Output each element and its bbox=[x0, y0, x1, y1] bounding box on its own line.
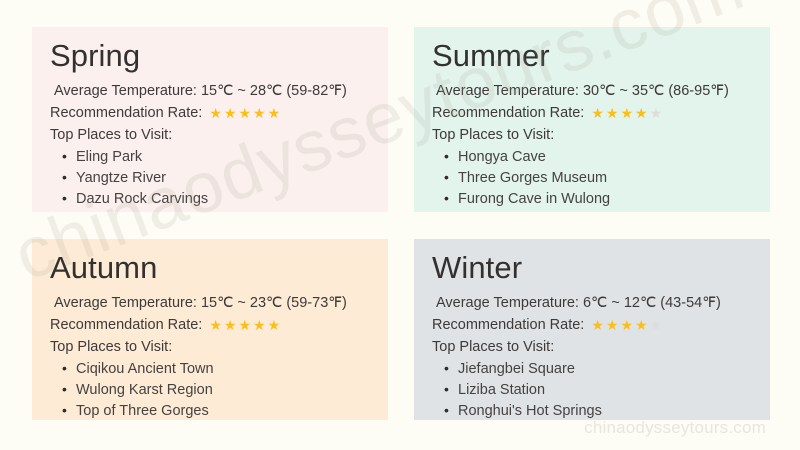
season-title-autumn: Autumn bbox=[50, 251, 372, 286]
list-item: Ciqikou Ancient Town bbox=[74, 359, 372, 380]
season-card-summer: SummerAverage Temperature: 30℃ ~ 35℃ (86… bbox=[414, 27, 770, 212]
recommendation-rate-label: Recommendation Rate: bbox=[432, 314, 584, 336]
list-item: Yangtze River bbox=[74, 168, 372, 189]
star-filled-icon: ★ bbox=[209, 106, 222, 120]
season-card-autumn: AutumnAverage Temperature: 15℃ ~ 23℃ (59… bbox=[32, 239, 388, 420]
temperature-line-summer: Average Temperature: 30℃ ~ 35℃ (86-95℉) bbox=[432, 80, 754, 102]
season-card-grid: SpringAverage Temperature: 15℃ ~ 28℃ (59… bbox=[32, 27, 770, 420]
recommendation-rate-autumn: Recommendation Rate:★★★★★ bbox=[50, 314, 372, 336]
rating-stars-spring: ★★★★★ bbox=[209, 106, 280, 120]
temperature-line-autumn: Average Temperature: 15℃ ~ 23℃ (59-73℉) bbox=[50, 292, 372, 314]
star-filled-icon: ★ bbox=[606, 106, 619, 120]
star-filled-icon: ★ bbox=[620, 318, 633, 332]
star-empty-icon: ★ bbox=[650, 106, 663, 120]
recommendation-rate-label: Recommendation Rate: bbox=[50, 102, 202, 124]
list-item: Eling Park bbox=[74, 147, 372, 168]
places-list-autumn: Ciqikou Ancient TownWulong Karst RegionT… bbox=[50, 359, 372, 420]
star-filled-icon: ★ bbox=[268, 318, 281, 332]
recommendation-rate-spring: Recommendation Rate:★★★★★ bbox=[50, 102, 372, 124]
star-filled-icon: ★ bbox=[591, 106, 604, 120]
places-list-winter: Jiefangbei SquareLiziba StationRonghui's… bbox=[432, 359, 754, 420]
list-item: Dazu Rock Carvings bbox=[74, 189, 372, 210]
list-item: Top of Three Gorges bbox=[74, 401, 372, 420]
places-label-winter: Top Places to Visit: bbox=[432, 336, 754, 358]
star-filled-icon: ★ bbox=[635, 106, 648, 120]
temperature-line-winter: Average Temperature: 6℃ ~ 12℃ (43-54℉) bbox=[432, 292, 754, 314]
season-title-summer: Summer bbox=[432, 39, 754, 74]
star-filled-icon: ★ bbox=[238, 318, 251, 332]
season-title-spring: Spring bbox=[50, 39, 372, 74]
list-item: Wulong Karst Region bbox=[74, 380, 372, 401]
star-filled-icon: ★ bbox=[620, 106, 633, 120]
rating-stars-autumn: ★★★★★ bbox=[209, 318, 280, 332]
rating-stars-summer: ★★★★★ bbox=[591, 106, 662, 120]
list-item: Three Gorges Museum bbox=[456, 168, 754, 189]
star-filled-icon: ★ bbox=[606, 318, 619, 332]
watermark-corner: chinaodysseytours.com bbox=[584, 418, 766, 438]
recommendation-rate-winter: Recommendation Rate:★★★★★ bbox=[432, 314, 754, 336]
star-filled-icon: ★ bbox=[224, 318, 237, 332]
list-item: Ronghui's Hot Springs bbox=[456, 401, 754, 420]
temperature-line-spring: Average Temperature: 15℃ ~ 28℃ (59-82℉) bbox=[50, 80, 372, 102]
star-filled-icon: ★ bbox=[224, 106, 237, 120]
recommendation-rate-label: Recommendation Rate: bbox=[432, 102, 584, 124]
places-label-summer: Top Places to Visit: bbox=[432, 124, 754, 146]
star-filled-icon: ★ bbox=[238, 106, 251, 120]
list-item: Hongya Cave bbox=[456, 147, 754, 168]
season-card-spring: SpringAverage Temperature: 15℃ ~ 28℃ (59… bbox=[32, 27, 388, 212]
star-empty-icon: ★ bbox=[650, 318, 663, 332]
list-item: Liziba Station bbox=[456, 380, 754, 401]
list-item: Jiefangbei Square bbox=[456, 359, 754, 380]
star-filled-icon: ★ bbox=[253, 318, 266, 332]
rating-stars-winter: ★★★★★ bbox=[591, 318, 662, 332]
season-card-winter: WinterAverage Temperature: 6℃ ~ 12℃ (43-… bbox=[414, 239, 770, 420]
recommendation-rate-summer: Recommendation Rate:★★★★★ bbox=[432, 102, 754, 124]
recommendation-rate-label: Recommendation Rate: bbox=[50, 314, 202, 336]
places-label-spring: Top Places to Visit: bbox=[50, 124, 372, 146]
star-filled-icon: ★ bbox=[635, 318, 648, 332]
star-filled-icon: ★ bbox=[268, 106, 281, 120]
places-list-spring: Eling ParkYangtze RiverDazu Rock Carving… bbox=[50, 147, 372, 210]
star-filled-icon: ★ bbox=[209, 318, 222, 332]
places-list-summer: Hongya CaveThree Gorges MuseumFurong Cav… bbox=[432, 147, 754, 210]
places-label-autumn: Top Places to Visit: bbox=[50, 336, 372, 358]
season-title-winter: Winter bbox=[432, 251, 754, 286]
star-filled-icon: ★ bbox=[591, 318, 604, 332]
star-filled-icon: ★ bbox=[253, 106, 266, 120]
list-item: Furong Cave in Wulong bbox=[456, 189, 754, 210]
